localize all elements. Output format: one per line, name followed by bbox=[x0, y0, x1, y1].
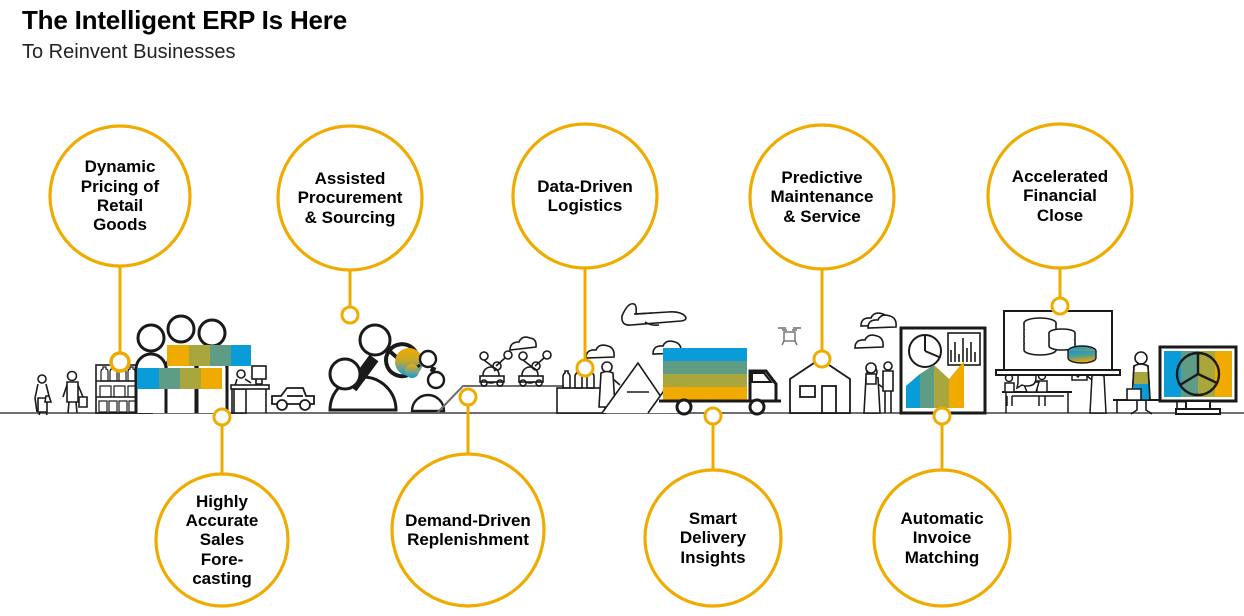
person-figure bbox=[883, 362, 893, 413]
callout-endpoint-dot bbox=[1052, 298, 1068, 314]
analytics-dashboard bbox=[901, 328, 985, 413]
bar-chart-icon bbox=[948, 333, 980, 365]
callout-endpoint-dot bbox=[111, 353, 129, 371]
callout-endpoint-dot bbox=[814, 351, 830, 367]
callout-endpoint-dot bbox=[214, 409, 230, 425]
person-figure bbox=[866, 363, 876, 384]
conveyor-robots bbox=[480, 351, 551, 386]
callout-circle[interactable] bbox=[750, 125, 894, 269]
retail-store-segment bbox=[35, 316, 314, 415]
monitor-pie-chart bbox=[1160, 347, 1236, 414]
callout-circle[interactable] bbox=[392, 454, 544, 606]
logistics-segment bbox=[659, 313, 893, 414]
airplane bbox=[622, 304, 686, 325]
callout-endpoint-dot bbox=[705, 408, 721, 424]
pie-chart-icon bbox=[909, 335, 941, 367]
callout-circle[interactable] bbox=[513, 124, 657, 268]
callout-circle[interactable] bbox=[278, 126, 422, 270]
shopper-figure bbox=[35, 375, 51, 415]
cloud bbox=[510, 337, 536, 350]
coin-gradient bbox=[1068, 346, 1096, 363]
callout-smart-delivery[interactable] bbox=[645, 408, 781, 606]
callout-circle[interactable] bbox=[50, 126, 190, 266]
callout-sales-forecasting[interactable] bbox=[156, 409, 288, 606]
cloud bbox=[855, 335, 883, 348]
analytics-segment bbox=[866, 311, 1236, 414]
callout-data-driven-logistics[interactable] bbox=[513, 124, 657, 376]
callout-circle[interactable] bbox=[874, 470, 1010, 606]
shop-counter bbox=[557, 371, 605, 413]
conveyor-platform bbox=[463, 386, 563, 413]
callout-demand-replenishment[interactable] bbox=[392, 389, 544, 606]
shopper-figure bbox=[63, 372, 87, 414]
callout-circle[interactable] bbox=[645, 470, 781, 606]
warehouse-segment bbox=[463, 304, 686, 413]
callout-endpoint-dot bbox=[577, 360, 593, 376]
infographic-root: The Intelligent ERP Is Here To Reinvent … bbox=[0, 0, 1244, 616]
drone bbox=[778, 328, 801, 345]
infographic-scene bbox=[0, 0, 1244, 616]
callout-endpoint-dot bbox=[934, 408, 950, 424]
callout-assisted-procurement[interactable] bbox=[278, 126, 422, 323]
callout-accelerated-close[interactable] bbox=[988, 124, 1132, 314]
callout-endpoint-dot bbox=[460, 389, 476, 405]
callout-endpoint-dot bbox=[342, 307, 358, 323]
coin-stack-screen bbox=[996, 311, 1120, 375]
delivery-truck bbox=[659, 348, 781, 414]
cashier-desk bbox=[231, 366, 269, 413]
callout-predictive-maintenance[interactable] bbox=[750, 125, 894, 367]
callout-invoice-matching[interactable] bbox=[874, 408, 1010, 606]
gradient-sphere-small bbox=[405, 364, 419, 378]
callout-circle[interactable] bbox=[156, 474, 288, 606]
car bbox=[272, 388, 314, 410]
callout-circle[interactable] bbox=[988, 124, 1132, 268]
cloud bbox=[586, 345, 614, 358]
